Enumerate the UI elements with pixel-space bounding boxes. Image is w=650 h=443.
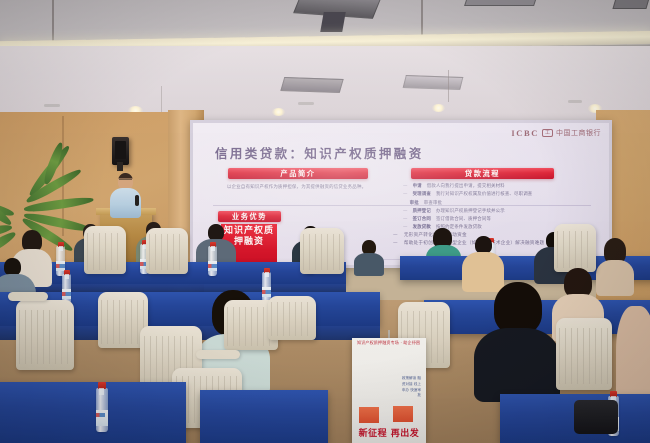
- product-intro-body: 以企业自有知识产权作为质押担保，为其提供融资的信贷业务品种。: [227, 184, 377, 192]
- slide-title: 信用类贷款：知识产权质押融资: [215, 143, 424, 162]
- chair: [146, 228, 188, 274]
- ceiling-vent-icon: [612, 0, 649, 9]
- banner-headline: 知识产权质押融资专场 · 助企纾困: [357, 340, 421, 346]
- icbc-logo: ICBC 工 中国工商银行: [511, 128, 601, 138]
- microphone-icon: [135, 195, 139, 206]
- ceiling-vent-icon: [320, 12, 346, 32]
- list-item: —申请借款人向我行提出申请，提交相关材料: [403, 183, 593, 190]
- water-bottle: [96, 388, 108, 432]
- banner-color-block: [393, 406, 413, 422]
- chair: [16, 300, 74, 370]
- chair-armrest: [196, 350, 240, 359]
- glasses-icon: [119, 179, 132, 182]
- list-item: —质押登记办理知识产权质押登记手续并公示: [403, 208, 593, 215]
- conference-table: [200, 390, 328, 443]
- presenter: [104, 173, 148, 217]
- chair: [556, 318, 612, 390]
- ceiling-vent-icon: [280, 77, 343, 93]
- audience-member: [354, 240, 384, 274]
- bag: [574, 400, 618, 434]
- standing-banner: 知识产权质押融资专场 · 助企纾困 政策解读 融资对接 线上申办 快速审批 新征…: [352, 338, 426, 443]
- list-item: —签订合同签订借款合同、质押合同等: [403, 216, 593, 223]
- banner-subtext: 政策解读 融资对接 线上申办 快速审批: [399, 376, 421, 399]
- water-bottle: [208, 246, 217, 276]
- slide-divider: [213, 205, 591, 206]
- icbc-bank-name: 中国工商银行: [556, 128, 601, 138]
- conference-table: [0, 382, 186, 443]
- chair: [554, 224, 596, 272]
- conference-room-photo: ICBC 工 中国工商银行 信用类贷款：知识产权质押融资 产品简介 贷款流程 以…: [0, 0, 650, 443]
- audience-member: [474, 282, 560, 400]
- section-header-business-advantage: 业务优势: [218, 211, 281, 222]
- list-item: —受理调查我行对知识产权权属及价值进行核查、尽职调查: [403, 191, 593, 198]
- section-header-loan-process: 贷款流程: [411, 168, 554, 179]
- ceiling-light-slot: [44, 104, 60, 107]
- wall-speaker-icon: [112, 137, 129, 165]
- chair: [84, 226, 126, 274]
- speaker-bracket: [117, 162, 123, 171]
- section-header-product-intro: 产品简介: [228, 168, 368, 179]
- chair: [268, 296, 316, 340]
- icbc-wordmark: ICBC: [511, 128, 539, 138]
- ceiling-vent-icon: [403, 75, 464, 90]
- banner-footer-text: 新征程 再出发: [356, 426, 422, 439]
- ceiling-hanger-rod: [448, 70, 449, 102]
- banner-color-block: [359, 407, 379, 423]
- ceiling-vent-icon: [464, 0, 538, 6]
- ceiling-light-slot: [568, 100, 582, 103]
- ceiling-downlight-icon: [272, 108, 285, 116]
- icbc-emblem-icon: 工: [542, 129, 553, 137]
- chair: [300, 228, 344, 274]
- ceiling-downlight-icon: [432, 104, 445, 112]
- ceiling-light-slot: [298, 102, 314, 105]
- chair-armrest: [8, 292, 48, 301]
